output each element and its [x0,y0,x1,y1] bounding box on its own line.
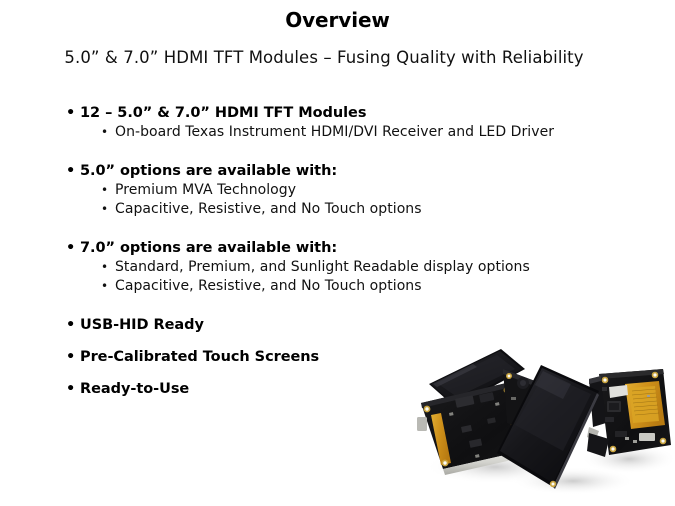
product-photo [403,341,675,496]
bullet-group-1: • 12 – 5.0” & 7.0” HDMI TFT Modules • On… [60,103,620,142]
bullet-marker-icon: • [66,347,75,367]
page-title: Overview [0,8,675,32]
bullet-level2-label: Capacitive, Resistive, and No Touch opti… [115,278,422,294]
bullet-marker-icon: • [66,238,75,258]
bullet-group-3: • 7.0” options are available with: • Sta… [60,238,620,296]
spacer [60,219,620,238]
bullet-level2-label: On-board Texas Instrument HDMI/DVI Recei… [115,124,554,140]
bullet-marker-icon: • [66,379,75,399]
bullet-level1-label: 7.0” options are available with: [80,240,337,256]
bullet-level1-label: 5.0” options are available with: [80,163,337,179]
bullet-level1-label: 12 – 5.0” & 7.0” HDMI TFT Modules [80,105,366,121]
bullet-level2: • Standard, Premium, and Sunlight Readab… [100,258,620,277]
bullet-level2-label: Capacitive, Resistive, and No Touch opti… [115,201,422,217]
bullet-marker-icon: • [101,258,108,277]
bullet-level1-label: Ready-to-Use [80,381,189,397]
page-subtitle: 5.0” & 7.0” HDMI TFT Modules – Fusing Qu… [0,48,648,67]
bullet-marker-icon: • [66,315,75,335]
bullet-level1-label: Pre-Calibrated Touch Screens [80,349,319,365]
bullet-marker-icon: • [66,161,75,181]
bullet-level2-label: Premium MVA Technology [115,182,296,198]
bullet-level2: • Capacitive, Resistive, and No Touch op… [100,200,620,219]
bullet-level2: • On-board Texas Instrument HDMI/DVI Rec… [100,123,620,142]
bullet-marker-icon: • [66,103,75,123]
spacer [60,296,620,315]
bullet-level1: • 5.0” options are available with: [60,161,620,181]
bullet-level2: • Capacitive, Resistive, and No Touch op… [100,277,620,296]
bullet-marker-icon: • [101,277,108,296]
slide-root: Overview 5.0” & 7.0” HDMI TFT Modules – … [0,0,675,506]
bullet-level1: • USB-HID Ready [60,315,620,335]
bullet-level2-label: Standard, Premium, and Sunlight Readable… [115,259,530,275]
bullet-marker-icon: • [101,123,108,142]
product-photo-illustration [403,341,675,496]
bullet-marker-icon: • [101,181,108,200]
bullet-marker-icon: • [101,200,108,219]
bullet-level2: • Premium MVA Technology [100,181,620,200]
bullet-level1: • 12 – 5.0” & 7.0” HDMI TFT Modules [60,103,620,123]
bullet-level1: • 7.0” options are available with: [60,238,620,258]
bullet-group-2: • 5.0” options are available with: • Pre… [60,161,620,219]
bullet-level1-label: USB-HID Ready [80,317,204,333]
spacer [60,142,620,161]
